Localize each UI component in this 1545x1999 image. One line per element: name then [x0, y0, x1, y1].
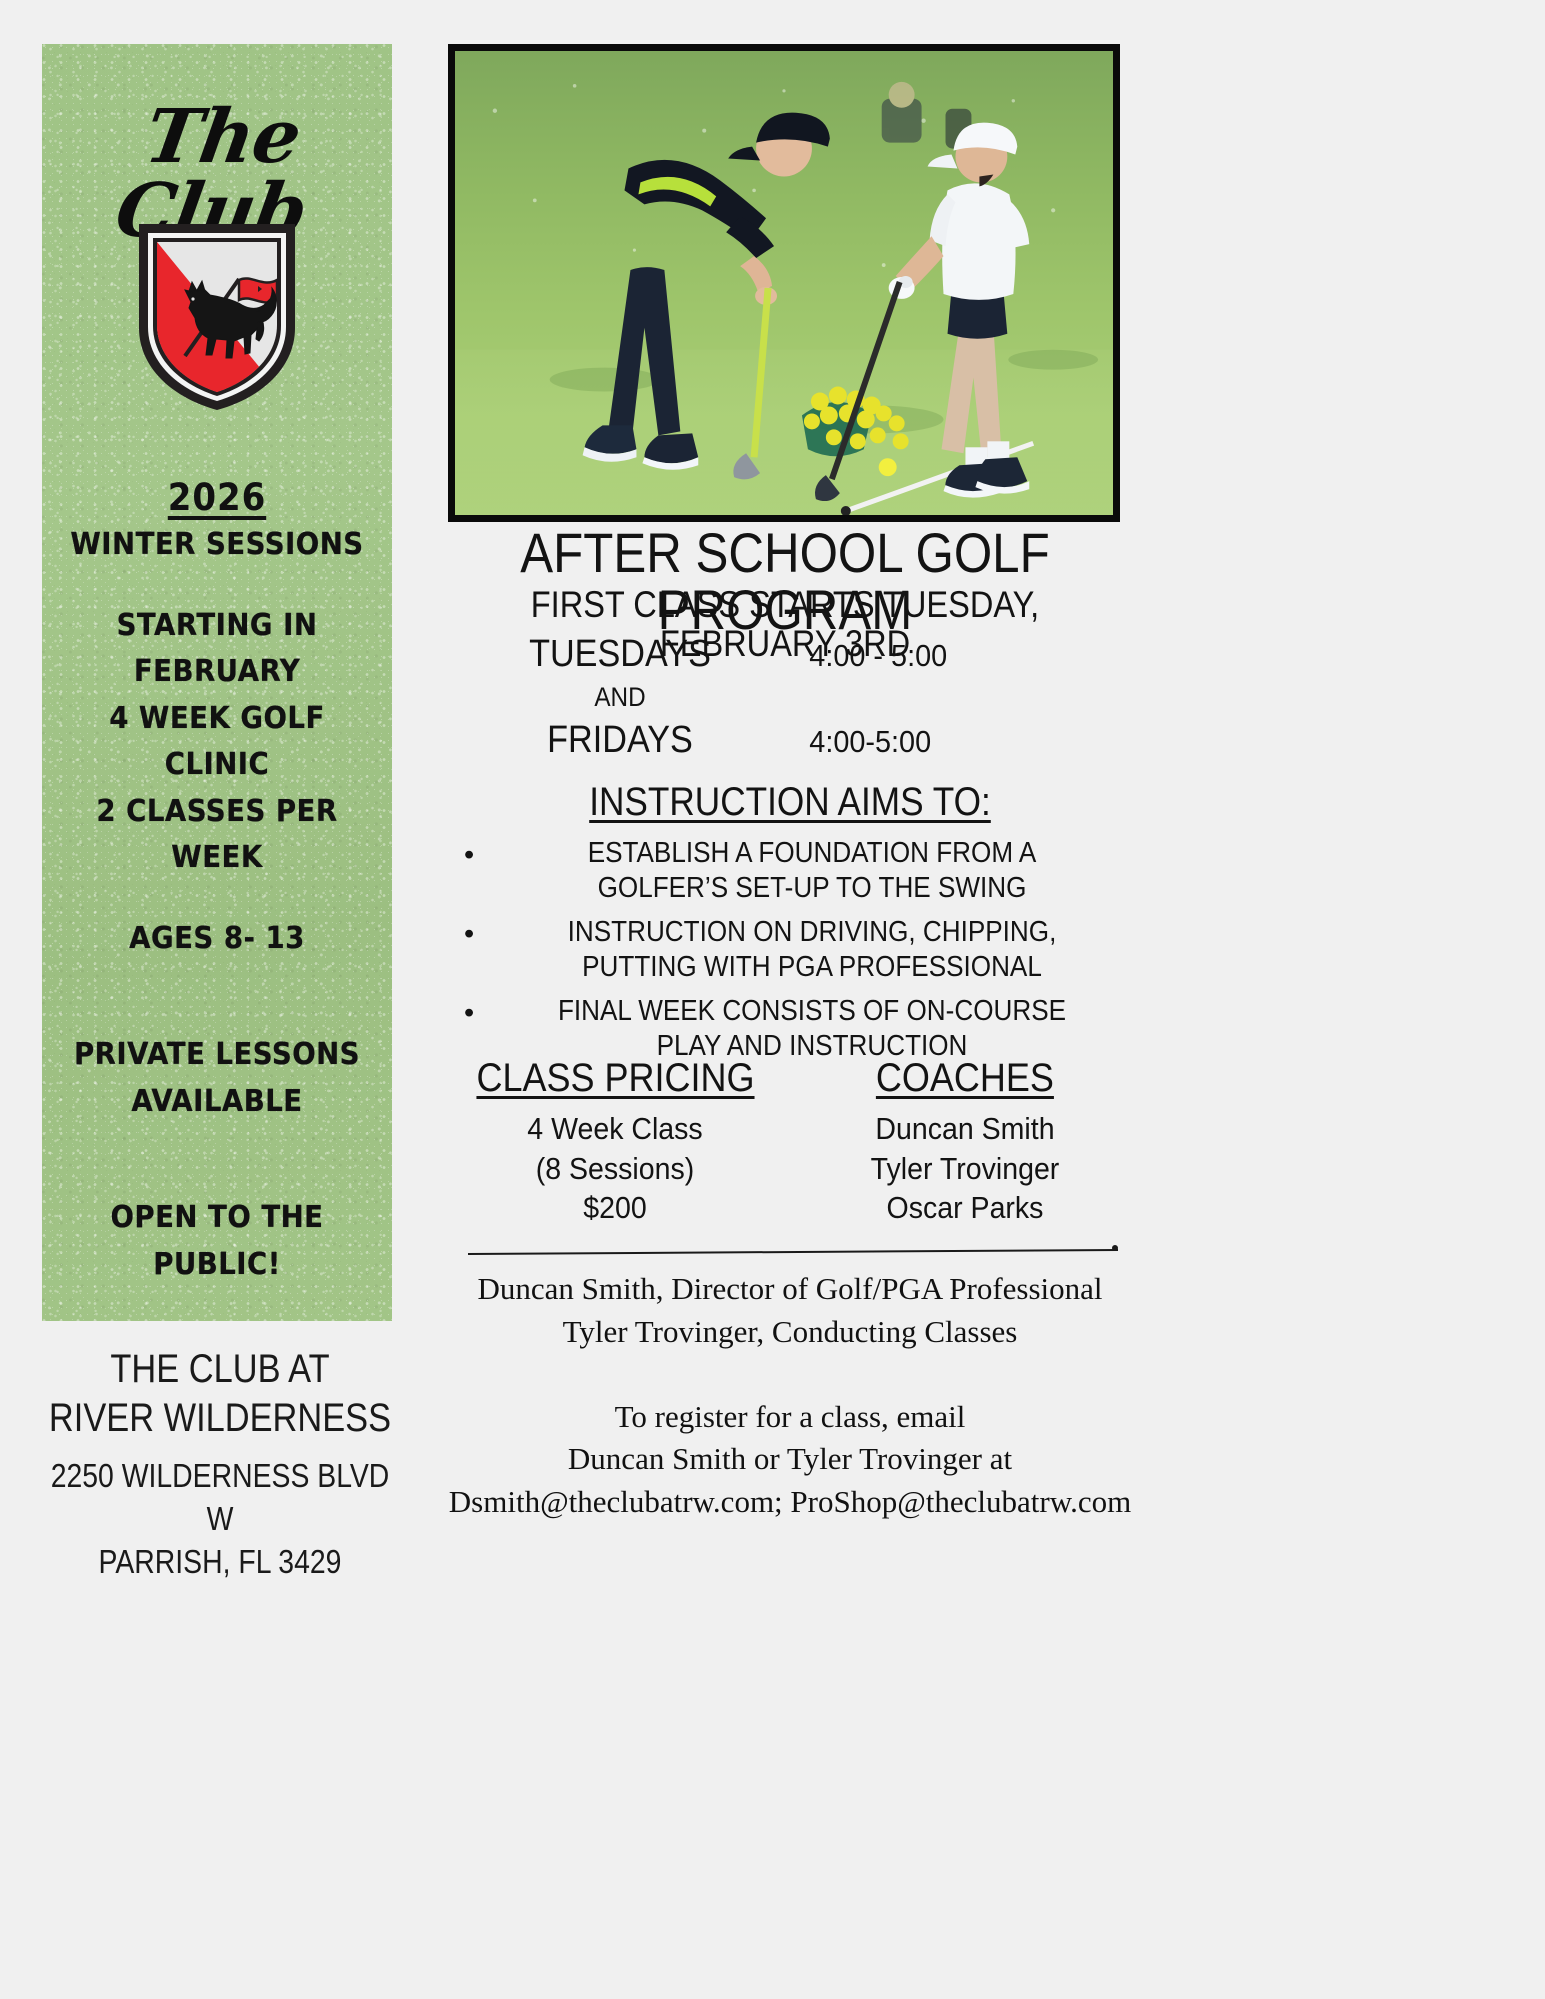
register-emails: Dsmith@theclubatrw.com; ProShop@thecluba… [440, 1481, 1140, 1524]
schedule-row-tuesdays: TUESDAYS 4:00 - 5:00 [440, 630, 1140, 679]
ages-line: AGES 8- 13 [56, 916, 378, 963]
coach-name-0: Duncan Smith [804, 1109, 1126, 1149]
coach-name-2: Oscar Parks [804, 1188, 1126, 1228]
schedule-day-tuesdays: TUESDAYS [458, 630, 782, 679]
address-line-2: PARRISH, FL 3429 [43, 1541, 397, 1584]
schedule-time-fridays: 4:00-5:00 [800, 722, 1107, 762]
class-pricing-header: CLASS PRICING [476, 1055, 754, 1101]
club-name-line-1: THE CLUB AT [48, 1345, 392, 1394]
instruction-aims-title: INSTRUCTION AIMS TO: [482, 780, 1098, 824]
schedule-row-fridays: FRIDAYS 4:00-5:00 [440, 716, 1140, 765]
register-line-1: Duncan Smith or Tyler Trovinger at [440, 1438, 1140, 1481]
pricing-line-0: 4 Week Class [454, 1109, 776, 1149]
class-pricing-column: CLASS PRICING 4 Week Class (8 Sessions) … [440, 1055, 790, 1228]
green-sidebar-panel: The Club [42, 44, 392, 1321]
bullet-icon: • [464, 917, 474, 952]
open-to-public-line: OPEN TO THE PUBLIC! [56, 1195, 378, 1288]
address-line-1: 2250 WILDERNESS BLVD W [43, 1455, 397, 1541]
session-year: 2026 [56, 474, 378, 522]
session-label: WINTER SESSIONS [56, 522, 378, 569]
aim-text-2: FINAL WEEK CONSISTS OF ON-COURSE PLAY AN… [528, 994, 1097, 1065]
schedule-table: TUESDAYS 4:00 - 5:00 AND FRIDAYS 4:00-5:… [440, 630, 1140, 765]
coaches-column: COACHES Duncan Smith Tyler Trovinger Osc… [790, 1055, 1140, 1228]
golf-instruction-photo [448, 44, 1120, 522]
list-item: • ESTABLISH A FOUNDATION FROM A GOLFER’S… [448, 836, 1138, 907]
pricing-and-coaches: CLASS PRICING 4 Week Class (8 Sessions) … [440, 1055, 1140, 1228]
schedule-time-tuesdays: 4:00 - 5:00 [800, 636, 1107, 676]
club-name: THE CLUB AT RIVER WILDERNESS [48, 1345, 392, 1443]
staff-line-0: Duncan Smith, Director of Golf/PGA Profe… [440, 1268, 1140, 1311]
pricing-line-2: $200 [454, 1188, 776, 1228]
coach-name-1: Tyler Trovinger [804, 1149, 1126, 1189]
schedule-conjunction: AND [458, 679, 782, 717]
horizontal-divider [468, 1249, 1118, 1255]
coaches-header: COACHES [876, 1055, 1054, 1101]
sidebar-text-block: 2026 WINTER SESSIONS STARTING IN FEBRUAR… [42, 474, 392, 1288]
private-lessons-line-1: AVAILABLE [56, 1079, 378, 1126]
club-address: 2250 WILDERNESS BLVD W PARRISH, FL 3429 [43, 1455, 397, 1584]
detail-line-2: 4 WEEK GOLF [56, 696, 378, 743]
staff-line-1: Tyler Trovinger, Conducting Classes [440, 1311, 1140, 1354]
footer-contact-block: Duncan Smith, Director of Golf/PGA Profe… [440, 1268, 1140, 1524]
bullet-icon: • [464, 838, 474, 873]
register-line-0: To register for a class, email [440, 1396, 1140, 1439]
instruction-aims-list: • ESTABLISH A FOUNDATION FROM A GOLFER’S… [448, 836, 1138, 1072]
private-lessons-line-0: PRIVATE LESSONS [56, 1032, 378, 1079]
detail-line-3: CLINIC [56, 742, 378, 789]
club-name-line-2: RIVER WILDERNESS [48, 1394, 392, 1443]
schedule-day-fridays: FRIDAYS [458, 716, 782, 765]
list-item: • FINAL WEEK CONSISTS OF ON-COURSE PLAY … [448, 994, 1138, 1065]
list-item: • INSTRUCTION ON DRIVING, CHIPPING, PUTT… [448, 915, 1138, 986]
main-content: AFTER SCHOOL GOLF PROGRAM FIRST CLASS ST… [440, 0, 1545, 1999]
bullet-icon: • [464, 996, 474, 1031]
detail-line-5: WEEK [56, 835, 378, 882]
detail-line-0: STARTING IN [56, 603, 378, 650]
club-crest [133, 216, 301, 419]
detail-line-4: 2 CLASSES PER [56, 789, 378, 836]
aim-text-1: INSTRUCTION ON DRIVING, CHIPPING, PUTTIN… [528, 915, 1097, 986]
pricing-line-1: (8 Sessions) [454, 1149, 776, 1189]
divider-end-dot [1112, 1245, 1118, 1251]
aim-text-0: ESTABLISH A FOUNDATION FROM A GOLFER’S S… [528, 836, 1097, 907]
detail-line-1: FEBRUARY [56, 649, 378, 696]
